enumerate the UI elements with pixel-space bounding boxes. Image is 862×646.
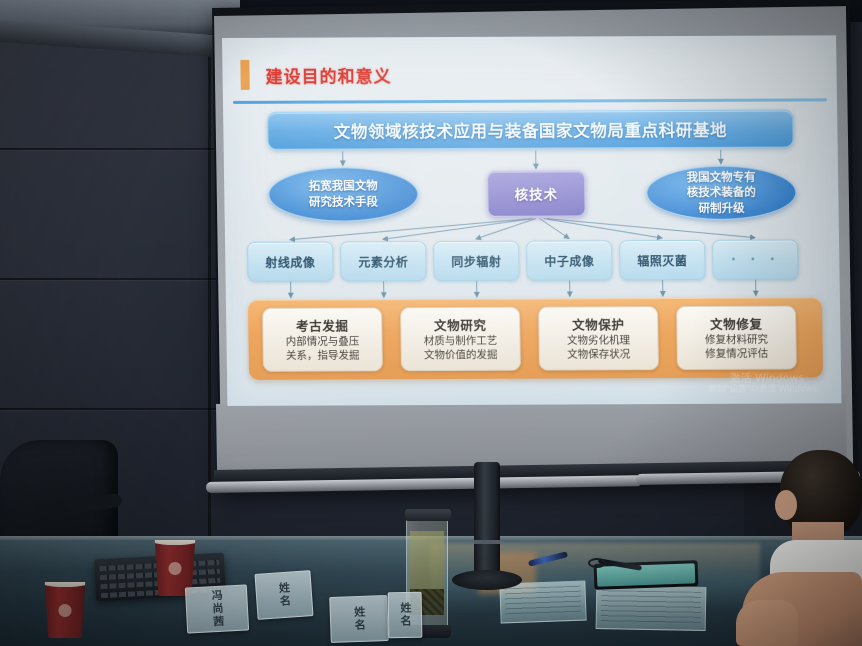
title-accent-bar bbox=[240, 60, 249, 90]
goal-left-line2: 研究技术手段 bbox=[309, 194, 378, 208]
application-line1-1: 内部情况与叠压 bbox=[286, 336, 360, 350]
slide-title: 建设目的和意义 bbox=[265, 62, 391, 88]
core-technology-box: 核技术 bbox=[487, 170, 586, 216]
technology-label-2: 元素分析 bbox=[358, 253, 408, 270]
application-box-3: 文物保护 文物劣化机理 文物保存状况 bbox=[538, 306, 659, 371]
application-line1-3: 文物劣化机理 bbox=[567, 335, 630, 349]
slide-title-row: 建设目的和意义 bbox=[240, 57, 392, 92]
application-box-4: 文物修复 修复材料研究 修复情况评估 bbox=[676, 305, 797, 370]
microphone-ring bbox=[474, 540, 500, 544]
application-line2-1: 关系，指导发掘 bbox=[286, 349, 360, 363]
conference-room-scene: 建设目的和意义 bbox=[0, 0, 862, 646]
technology-box-5: 辐照灭菌 bbox=[619, 240, 706, 280]
application-line1-2: 材质与制作工艺 bbox=[424, 335, 498, 349]
technology-box-4: 中子成像 bbox=[526, 240, 613, 280]
application-line2-3: 文物保存状况 bbox=[567, 348, 630, 362]
application-box-1: 考古发掘 内部情况与叠压 关系，指导发掘 bbox=[262, 307, 383, 372]
attendee-ear bbox=[775, 490, 797, 520]
conference-microphone[interactable] bbox=[474, 462, 500, 584]
goal-right-line3: 研制升级 bbox=[698, 200, 744, 214]
paper-cup[interactable] bbox=[42, 582, 88, 638]
applications-bar: 考古发掘 内部情况与叠压 关系，指导发掘 文物研究 材质与制作工艺 文物价值的发… bbox=[248, 297, 823, 379]
name-placard[interactable]: 姓名 bbox=[329, 595, 389, 643]
technology-label-4: 中子成像 bbox=[544, 252, 594, 269]
document[interactable] bbox=[499, 581, 586, 624]
microphone-base bbox=[452, 570, 522, 590]
technology-box-more: · · · bbox=[712, 239, 799, 279]
application-line2-2: 文物价值的发掘 bbox=[424, 349, 498, 363]
wall-column bbox=[208, 22, 211, 542]
technology-box-2: 元素分析 bbox=[340, 241, 427, 281]
technology-row: 射线成像 元素分析 同步辐射 中子成像 辐照灭菌 · · · bbox=[247, 239, 822, 282]
document[interactable] bbox=[596, 585, 707, 631]
name-placard[interactable]: 冯尚茜 bbox=[185, 584, 249, 633]
application-title-3: 文物保护 bbox=[572, 315, 625, 334]
projected-slide: 建设目的和意义 bbox=[222, 35, 841, 406]
eyeglasses[interactable] bbox=[588, 558, 606, 568]
technology-box-3: 同步辐射 bbox=[433, 241, 520, 281]
diagram-header-box: 文物领域核技术应用与装备国家文物局重点科研基地 bbox=[267, 110, 794, 150]
technology-label-1: 射线成像 bbox=[265, 253, 315, 270]
name-placard[interactable]: 姓名 bbox=[254, 570, 313, 620]
name-placard-text: 姓名 bbox=[397, 602, 413, 628]
technology-label-3: 同步辐射 bbox=[451, 252, 501, 269]
slide-diagram: 文物领域核技术应用与装备国家文物局重点科研基地 拓宽我国文物 研究技术手段 核技… bbox=[233, 107, 833, 396]
technology-label-more: · · · bbox=[731, 252, 780, 267]
name-placard-text: 姓名 bbox=[275, 581, 293, 608]
diagram-header-label: 文物领域核技术应用与装备国家文物局重点科研基地 bbox=[334, 117, 728, 143]
name-placard[interactable]: 姓名 bbox=[388, 592, 423, 639]
title-underline-rule bbox=[233, 98, 827, 104]
application-title-1: 考古发掘 bbox=[296, 316, 349, 335]
application-title-2: 文物研究 bbox=[434, 315, 487, 334]
goal-right-line2: 核技术装备的 bbox=[687, 185, 756, 199]
core-technology-label: 核技术 bbox=[514, 184, 558, 204]
attendee-hand bbox=[736, 600, 798, 646]
application-title-4: 文物修复 bbox=[710, 314, 763, 333]
application-line1-4: 修复材料研究 bbox=[705, 334, 768, 348]
name-placard-text: 姓名 bbox=[351, 606, 368, 633]
goal-right-line1: 我国文物专有 bbox=[687, 169, 756, 183]
goal-ellipse-right: 我国文物专有 核技术装备的 研制升级 bbox=[646, 165, 797, 220]
technology-label-5: 辐照灭菌 bbox=[637, 251, 687, 268]
goal-left-line1: 拓宽我国文物 bbox=[309, 179, 378, 193]
goal-ellipse-left: 拓宽我国文物 研究技术手段 bbox=[268, 167, 419, 222]
application-line2-4: 修复情况评估 bbox=[705, 348, 768, 362]
application-box-2: 文物研究 材质与制作工艺 文物价值的发掘 bbox=[400, 307, 521, 372]
name-placard-text: 冯尚茜 bbox=[208, 589, 226, 629]
technology-box-1: 射线成像 bbox=[247, 242, 334, 282]
